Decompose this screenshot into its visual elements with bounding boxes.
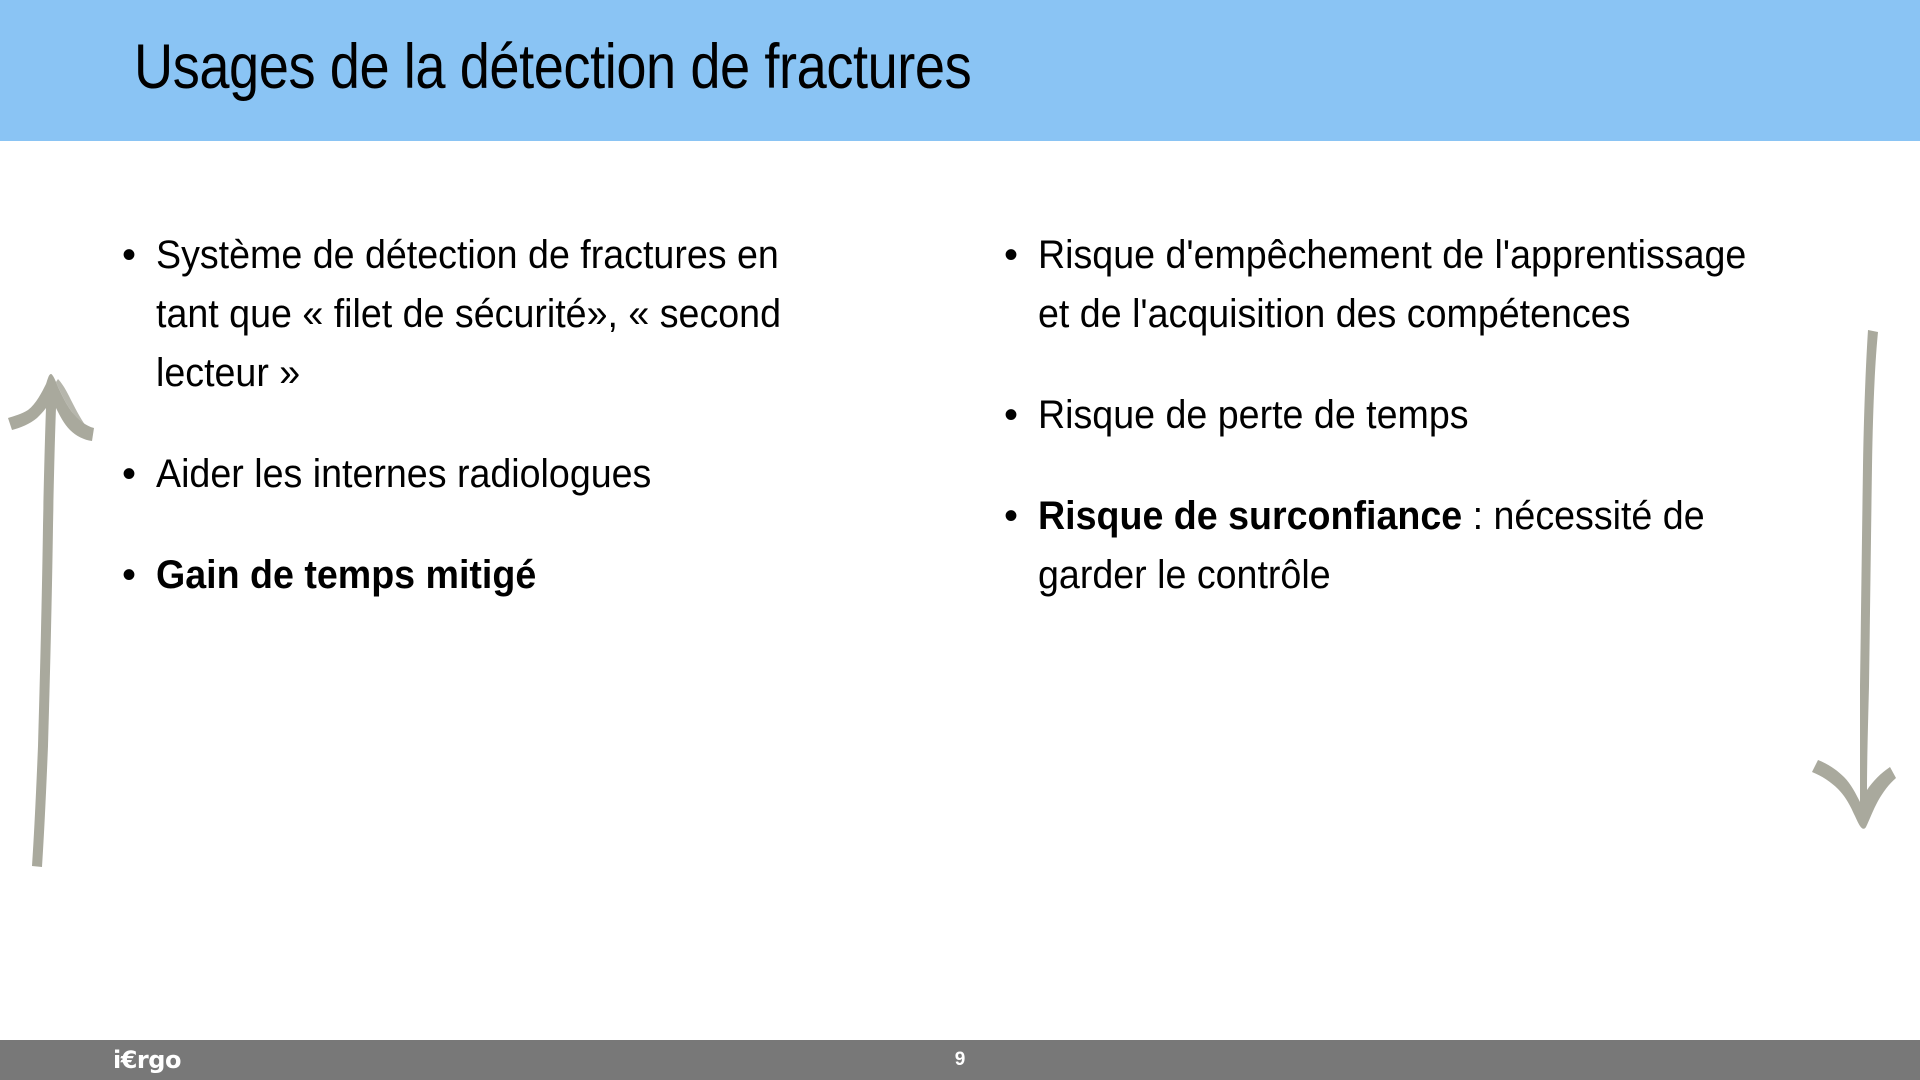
- bullet-text: Système de détection de fractures en tan…: [156, 226, 844, 403]
- bullet-text-mixed: Risque de surconfiance : nécessité de ga…: [1038, 487, 1782, 605]
- bullet-marker-icon: •: [118, 445, 156, 504]
- page-number: 9: [0, 1050, 1920, 1070]
- page-title: Usages de la détection de fractures: [134, 27, 971, 107]
- bullet-text-emphasis: Risque de surconfiance: [1038, 494, 1462, 538]
- list-item: • Risque de surconfiance : nécessité de …: [1000, 487, 1830, 605]
- bullet-marker-icon: •: [1000, 226, 1038, 285]
- list-item: • Système de détection de fractures en t…: [118, 226, 888, 403]
- bullet-column-left: • Système de détection de fractures en t…: [118, 226, 888, 647]
- slide-content: • Système de détection de fractures en t…: [0, 141, 1920, 1021]
- bullet-marker-icon: •: [1000, 487, 1038, 546]
- slide-footer-bar: i€rgo 9: [0, 1040, 1920, 1080]
- list-item: • Risque de perte de temps: [1000, 386, 1830, 445]
- bullet-text: Gain de temps mitigé: [156, 546, 844, 605]
- list-item: • Aider les internes radiologues: [118, 445, 888, 504]
- bullet-text: Risque d'empêchement de l'apprentissage …: [1038, 226, 1782, 344]
- bullet-marker-icon: •: [1000, 386, 1038, 445]
- slide-header-bar: Usages de la détection de fractures: [0, 0, 1920, 141]
- list-item: • Risque d'empêchement de l'apprentissag…: [1000, 226, 1830, 344]
- bullet-marker-icon: •: [118, 226, 156, 285]
- bullet-marker-icon: •: [118, 546, 156, 605]
- bullet-text: Aider les internes radiologues: [156, 445, 844, 504]
- bullet-text: Risque de perte de temps: [1038, 386, 1782, 445]
- bullet-column-right: • Risque d'empêchement de l'apprentissag…: [1000, 226, 1830, 647]
- slide: Usages de la détection de fractures • Sy…: [0, 0, 1920, 1080]
- arrow-up-icon: [2, 346, 102, 876]
- list-item: • Gain de temps mitigé: [118, 546, 888, 605]
